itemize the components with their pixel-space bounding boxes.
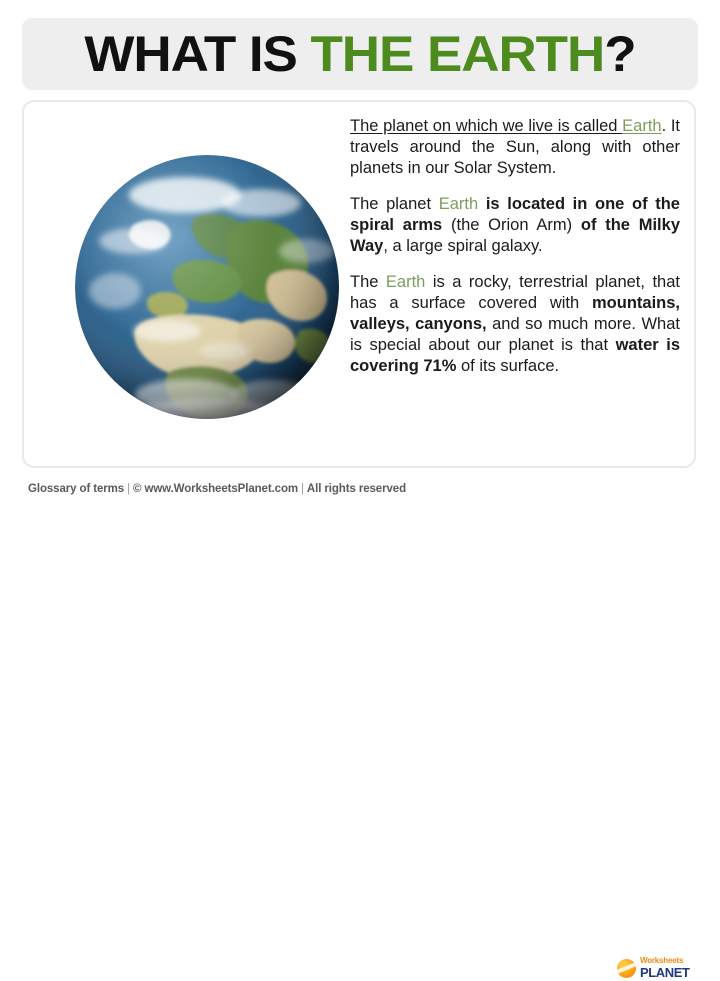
earth-globe-svg xyxy=(75,155,339,419)
paragraph-1-lead: The planet on which we live is called xyxy=(350,117,622,135)
paragraph-2-s2 xyxy=(478,195,486,213)
logo-wordmark: Worksheets PLANET xyxy=(640,957,690,979)
worksheets-planet-logo[interactable]: Worksheets PLANET xyxy=(617,955,705,981)
page-title-part-2: THE EARTH xyxy=(310,26,604,82)
footer: Glossary of terms|© www.WorksheetsPlanet… xyxy=(0,478,720,509)
copyright-icon: © xyxy=(133,483,141,495)
paragraph-2-s3: (the Orion Arm) xyxy=(442,216,581,234)
page-title-part-1: WHAT IS xyxy=(84,26,310,82)
worksheet-page: WHAT IS THE EARTH? xyxy=(0,0,720,509)
footer-separator-1: | xyxy=(124,483,133,495)
earth-image-container xyxy=(62,122,352,452)
paragraph-2-s4: , a large spiral galaxy. xyxy=(383,237,542,255)
paragraph-3: The Earth is a rocky, terrestrial planet… xyxy=(350,272,680,377)
article-text-column: The planet on which we live is called Ea… xyxy=(350,116,680,377)
footer-rights-label: All rights reserved xyxy=(307,483,406,495)
paragraph-2-s1: The planet xyxy=(350,195,439,213)
paragraph-2: The planet Earth is located in one of th… xyxy=(350,194,680,257)
footer-separator-2: | xyxy=(298,483,307,495)
paragraph-1-highlight: Earth xyxy=(622,117,661,135)
logo-bottom-word: PLANET xyxy=(640,966,690,979)
paragraph-3-s1: The xyxy=(350,273,386,291)
paragraph-3-highlight: Earth xyxy=(386,273,425,291)
title-card: WHAT IS THE EARTH? xyxy=(22,18,698,90)
paragraph-3-s4: of its surface. xyxy=(456,357,559,375)
footer-glossary-label: Glossary of terms xyxy=(28,483,124,495)
earth-globe xyxy=(75,155,339,419)
footer-credit-line: Glossary of terms|© www.WorksheetsPlanet… xyxy=(28,483,406,495)
logo-top-word: Worksheets xyxy=(640,957,690,965)
page-title: WHAT IS THE EARTH? xyxy=(84,29,635,79)
paragraph-1: The planet on which we live is called Ea… xyxy=(350,116,680,179)
paragraph-2-highlight: Earth xyxy=(439,195,478,213)
page-title-part-3: ? xyxy=(604,26,635,82)
footer-site-link[interactable]: www.WorksheetsPlanet.com xyxy=(144,483,298,495)
content-card: The planet on which we live is called Ea… xyxy=(22,100,696,468)
planet-logo-icon xyxy=(617,959,636,978)
